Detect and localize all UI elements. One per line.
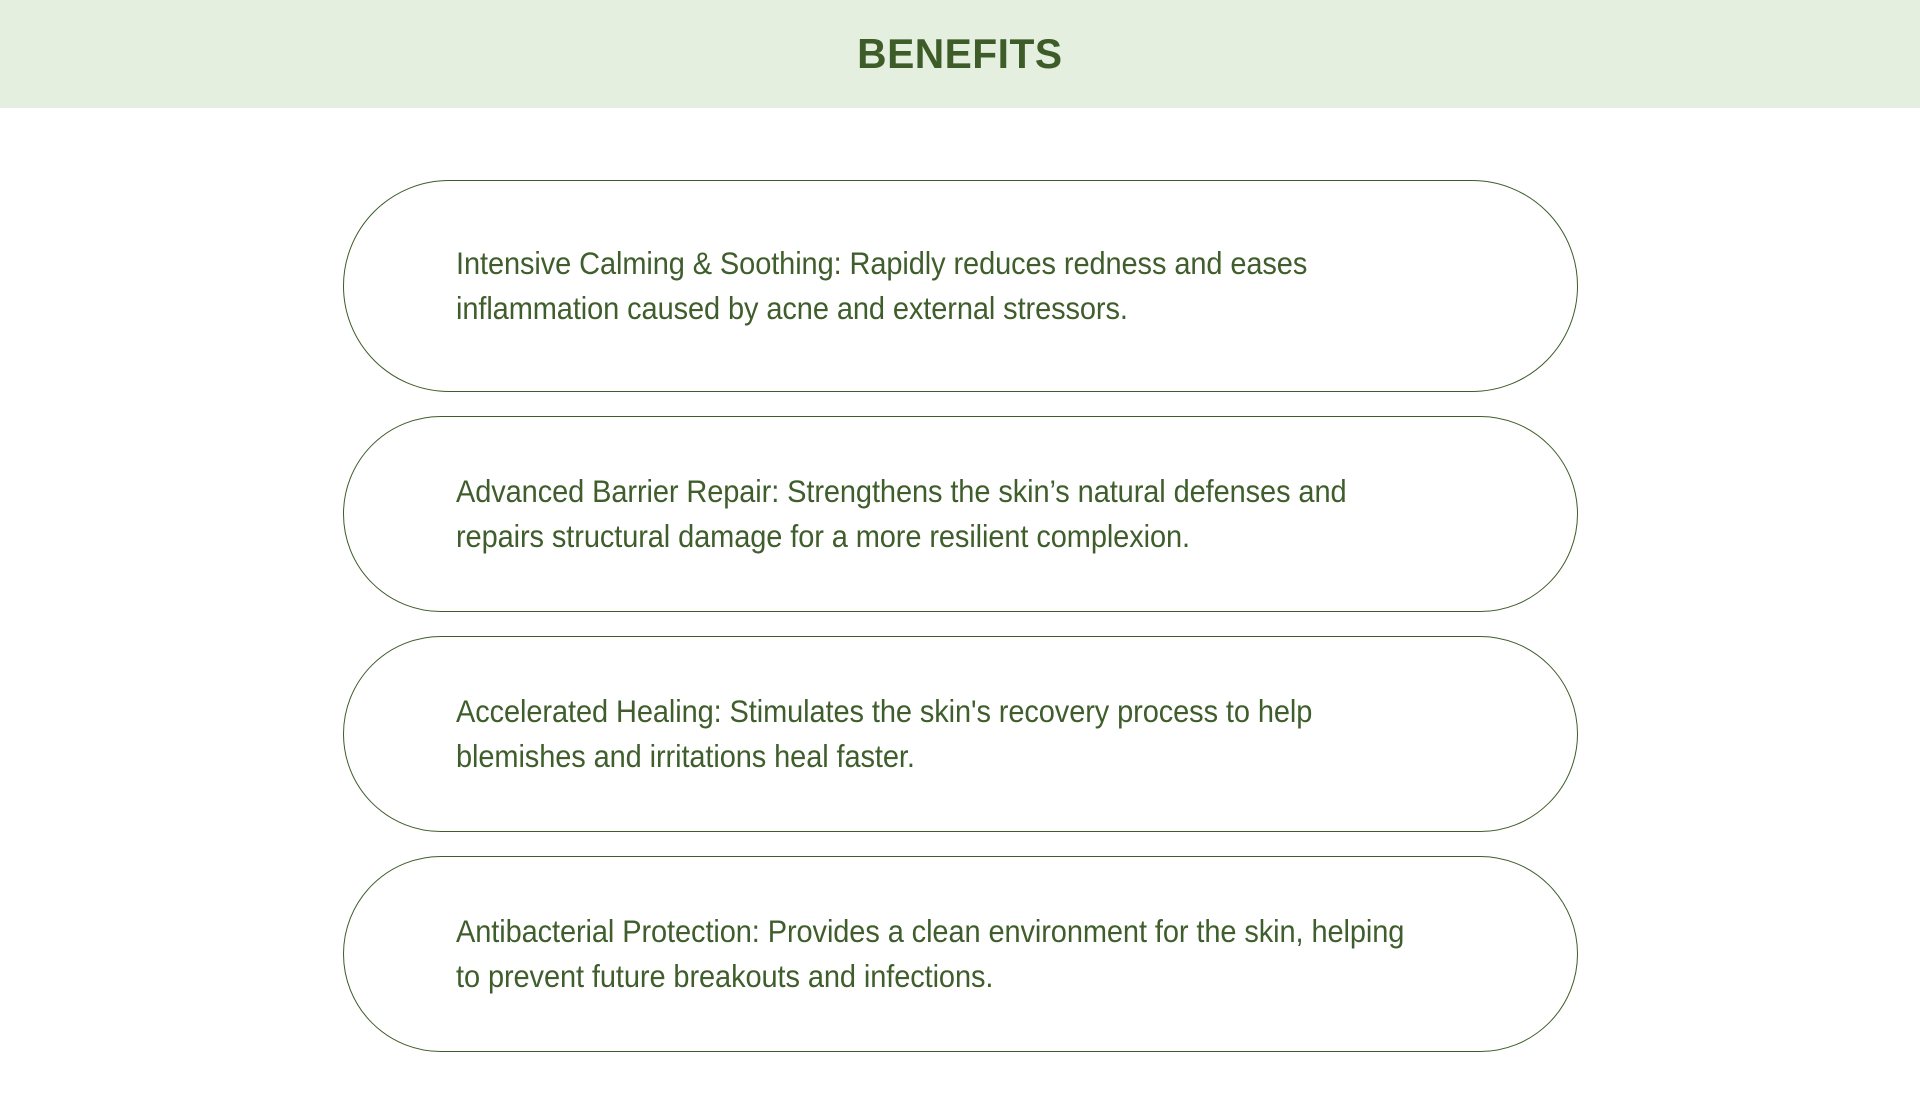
benefit-card-antibacterial-protection[interactable]: Antibacterial Protection: Provides a cle… — [343, 856, 1578, 1052]
benefit-card-advanced-barrier-repair[interactable]: Advanced Barrier Repair: Strengthens the… — [343, 416, 1578, 612]
benefit-card-intensive-calming-soothing[interactable]: Intensive Calming & Soothing: Rapidly re… — [343, 180, 1578, 392]
benefit-card-text: Antibacterial Protection: Provides a cle… — [456, 909, 1405, 999]
benefits-card-list: Intensive Calming & Soothing: Rapidly re… — [0, 108, 1920, 1119]
page-header-band: BENEFITS — [0, 0, 1920, 108]
benefit-card-text: Accelerated Healing: Stimulates the skin… — [456, 689, 1405, 779]
benefit-card-text: Advanced Barrier Repair: Strengthens the… — [456, 469, 1405, 559]
benefit-card-accelerated-healing[interactable]: Accelerated Healing: Stimulates the skin… — [343, 636, 1578, 832]
page-title: BENEFITS — [857, 33, 1062, 75]
benefit-card-text: Intensive Calming & Soothing: Rapidly re… — [456, 241, 1405, 331]
benefits-page: BENEFITS Intensive Calming & Soothing: R… — [0, 0, 1920, 1119]
